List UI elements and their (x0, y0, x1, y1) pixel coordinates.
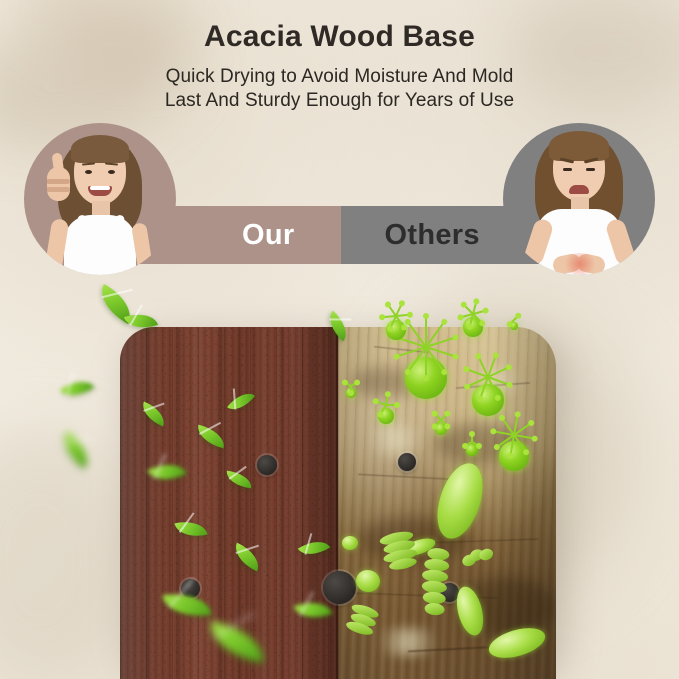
unhappy-woman-illustration (503, 123, 655, 275)
rubber-foot-icon (257, 455, 277, 475)
avatar-happy-woman (24, 123, 176, 275)
virus-icon (460, 372, 516, 428)
bacteria-coil-icon (376, 526, 425, 574)
virus-icon (462, 440, 482, 460)
rubber-foot-icon (398, 453, 416, 471)
virus-icon (342, 384, 360, 402)
avatar-unhappy-woman (503, 123, 655, 275)
page-subtitle: Quick Drying to Avoid Moisture And Mold … (0, 65, 679, 114)
bacteria-rod-icon (342, 536, 358, 550)
comparison-others-label: Others (385, 221, 480, 250)
product-comparison-infographic: Acacia Wood Base Quick Drying to Avoid M… (0, 0, 679, 679)
comparison-our-label: Our (242, 221, 294, 250)
virus-icon (488, 430, 540, 482)
virus-icon (430, 418, 452, 440)
virus-icon (372, 402, 400, 430)
board-split-line (336, 327, 339, 679)
page-title: Acacia Wood Base (0, 20, 679, 53)
heading-block: Acacia Wood Base Quick Drying to Avoid M… (0, 20, 679, 114)
happy-woman-illustration (24, 123, 176, 275)
subtitle-line-1: Quick Drying to Avoid Moisture And Mold (0, 65, 679, 89)
virus-icon (506, 318, 522, 334)
subtitle-line-2: Last And Sturdy Enough for Years of Use (0, 89, 679, 113)
virus-icon (456, 310, 490, 344)
virus-icon (378, 312, 414, 348)
